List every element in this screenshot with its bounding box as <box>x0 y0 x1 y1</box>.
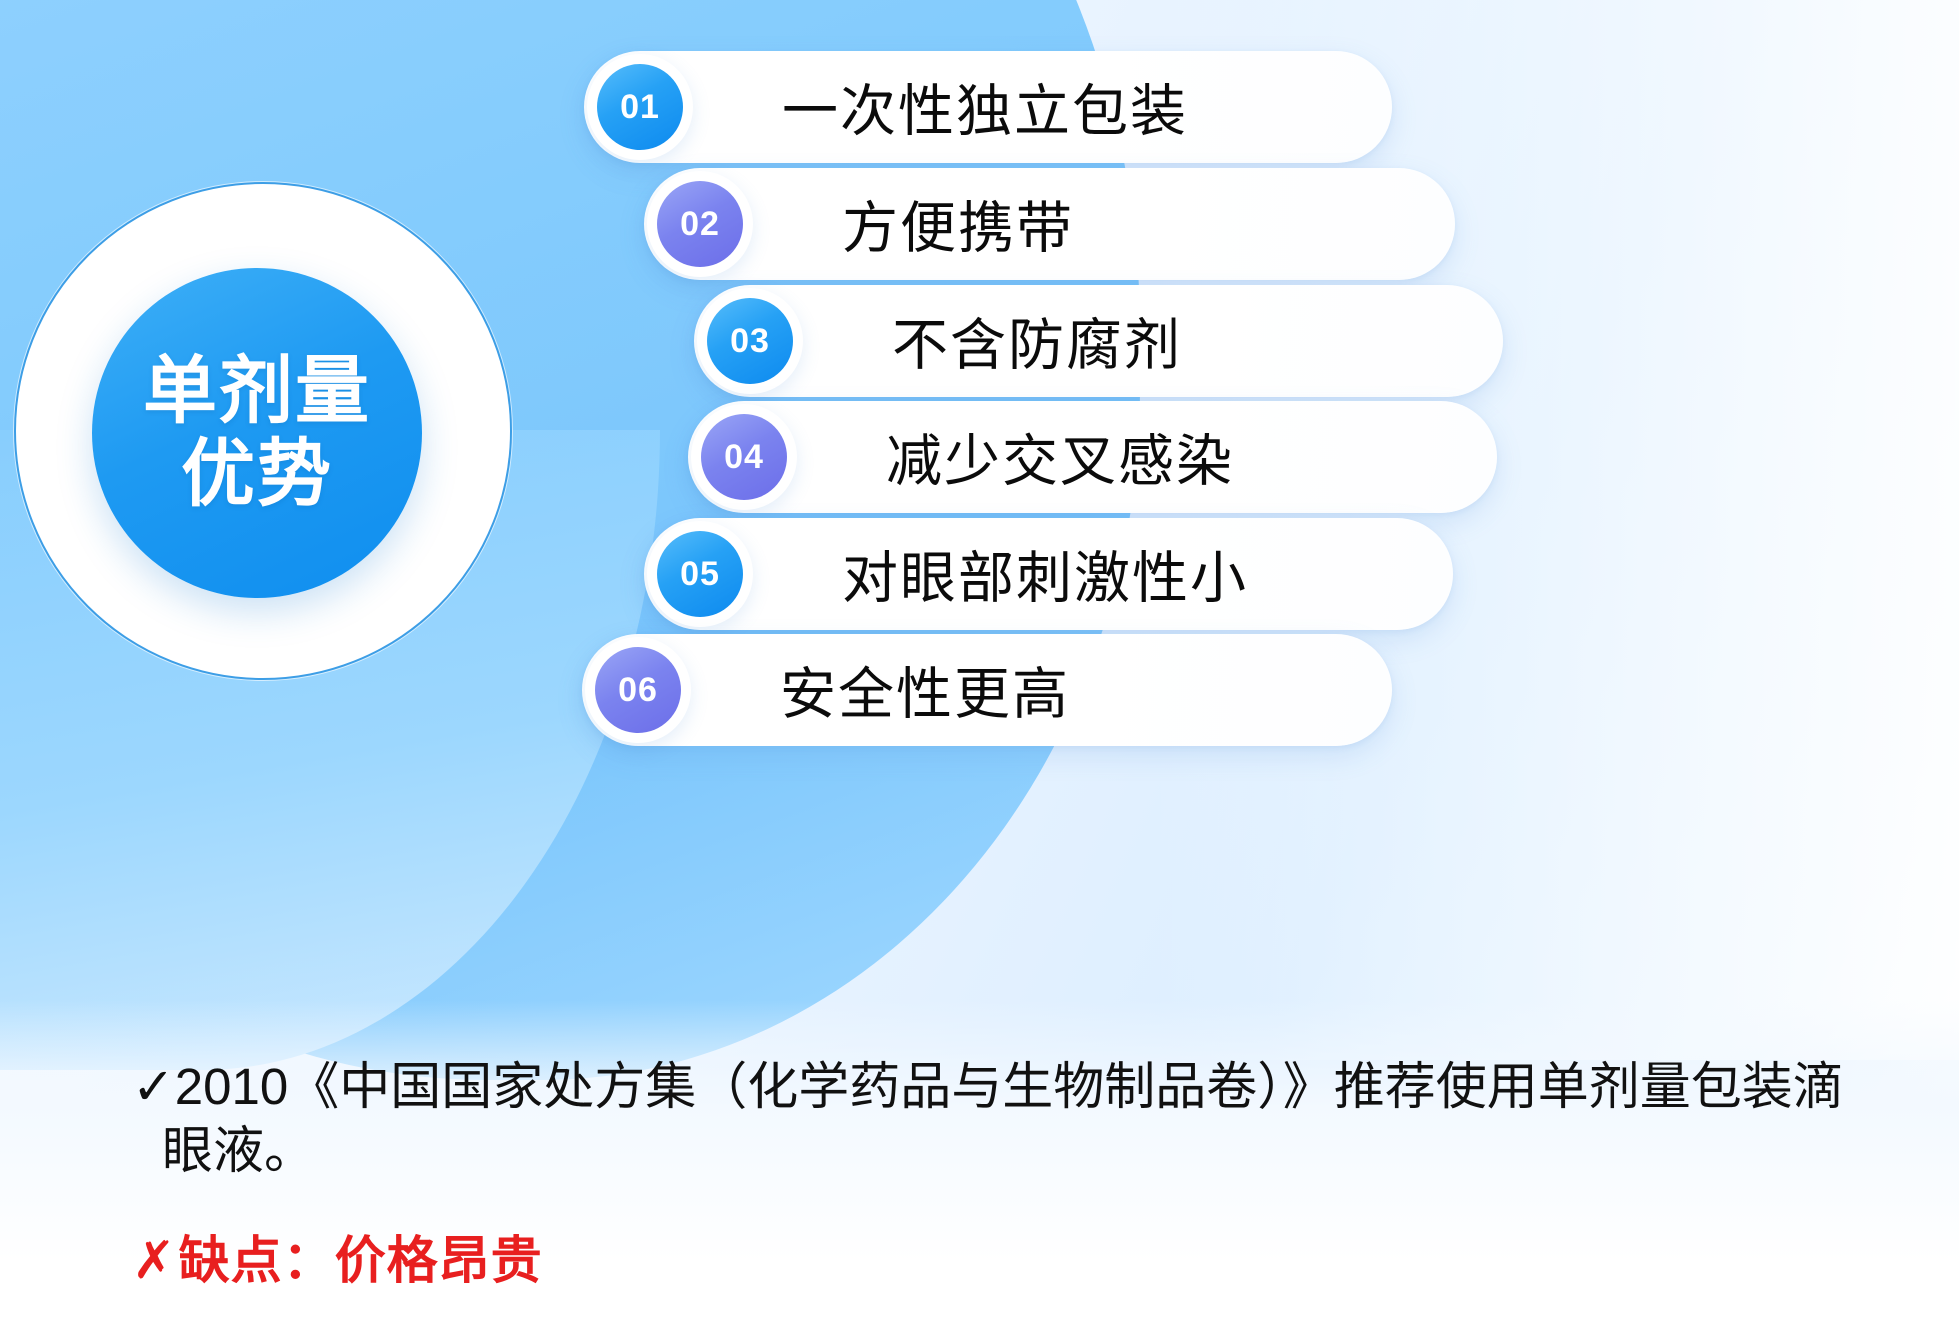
badge-number: 02 <box>657 181 743 267</box>
badge-number: 06 <box>595 647 681 733</box>
advantage-row[interactable]: 01一次性独立包装 <box>584 51 1392 163</box>
advantage-label: 不含防腐剂 <box>892 301 1182 382</box>
advantage-badge-06: 06 <box>585 637 691 743</box>
advantage-row[interactable]: 02方便携带 <box>644 168 1455 280</box>
badge-number: 05 <box>657 531 743 617</box>
footnote-reference: ✓2010《中国国家处方集（化学药品与生物制品卷）》推荐使用单剂量包装滴眼液。 <box>132 1055 1852 1183</box>
drawback-line: ✗缺点：价格昂贵 <box>132 1219 1959 1293</box>
advantage-row[interactable]: 04减少交叉感染 <box>688 401 1497 513</box>
advantage-row[interactable]: 05对眼部刺激性小 <box>644 518 1453 630</box>
drawback-text: 缺点：价格昂贵 <box>179 1232 543 1289</box>
advantage-row[interactable]: 03不含防腐剂 <box>694 285 1503 397</box>
advantage-label: 一次性独立包装 <box>782 67 1188 148</box>
advantage-badge-05: 05 <box>647 521 753 627</box>
advantage-label: 安全性更高 <box>780 650 1070 731</box>
advantage-badge-01: 01 <box>587 54 693 160</box>
badge-number: 01 <box>597 64 683 150</box>
badge-number: 04 <box>701 414 787 500</box>
advantage-label: 方便携带 <box>842 184 1074 265</box>
footer: ✓2010《中国国家处方集（化学药品与生物制品卷）》推荐使用单剂量包装滴眼液。 … <box>0 1055 1959 1293</box>
advantage-row[interactable]: 06安全性更高 <box>582 634 1392 746</box>
advantage-label: 对眼部刺激性小 <box>842 534 1248 615</box>
check-icon: ✓ <box>132 1058 175 1115</box>
advantage-label: 减少交叉感染 <box>886 417 1234 498</box>
footnote-text: 2010《中国国家处方集（化学药品与生物制品卷）》推荐使用单剂量包装滴眼液。 <box>162 1058 1844 1179</box>
advantage-badge-02: 02 <box>647 171 753 277</box>
advantages-list: 01一次性独立包装02方便携带03不含防腐剂04减少交叉感染05对眼部刺激性小0… <box>0 0 1959 790</box>
advantage-badge-03: 03 <box>697 288 803 394</box>
badge-number: 03 <box>707 298 793 384</box>
cross-icon: ✗ <box>132 1232 177 1290</box>
advantage-badge-04: 04 <box>691 404 797 510</box>
